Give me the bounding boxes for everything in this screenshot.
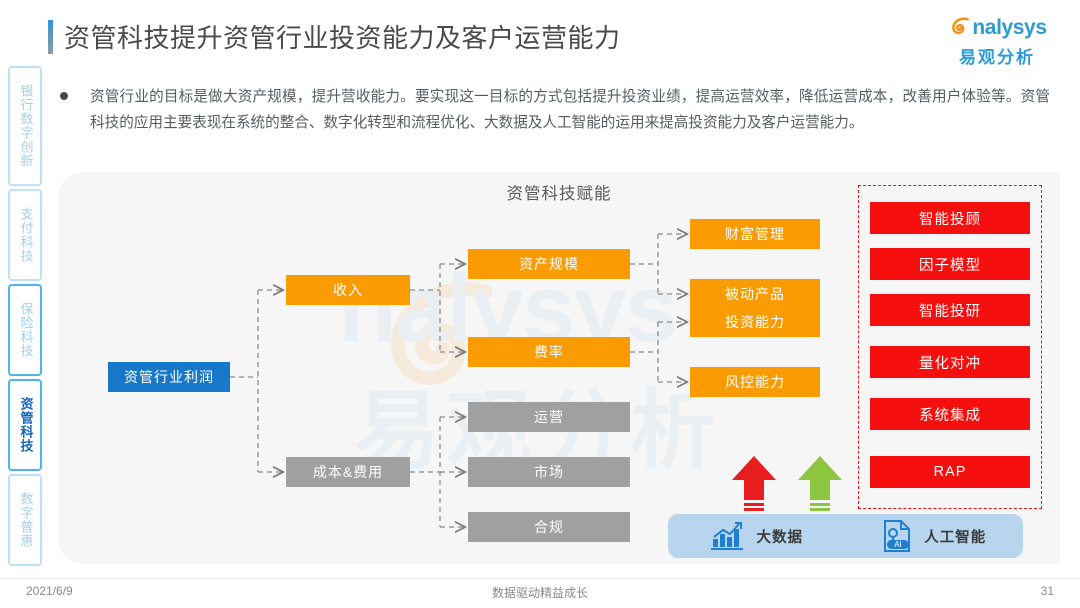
tech-enablers-bar: 大数据 AI 人工智能 [668,514,1023,558]
node-compliance[interactable]: 合规 [468,512,630,542]
sidebar-tabs: 银行数字创新 支付科技 保险科技 资管科技 数字普惠 [8,66,42,566]
bar-chart-icon [711,521,745,551]
node-asset-scale[interactable]: 资产规模 [468,249,630,279]
sidebar-item-asset-management-tech[interactable]: 资管科技 [8,379,42,471]
sidebar-item-digital-inclusive-finance[interactable]: 数字普惠 [8,474,42,566]
red-up-arrow-icon [730,454,778,514]
tech-item-artificial-intelligence[interactable]: AI 人工智能 [846,519,1024,553]
ai-document-icon: AI [882,519,912,553]
node-label: 资产规模 [519,254,579,274]
green-up-arrow-icon [796,454,844,514]
logo-chinese-name: 易观分析 [934,43,1060,68]
node-cost-and-expense[interactable]: 成本&费用 [286,457,410,487]
sidebar-item-label: 保险科技 [18,302,33,358]
sidebar-item-label: 银行数字创新 [18,84,33,168]
node-wealth-management[interactable]: 财富管理 [690,219,820,249]
node-passive-products[interactable]: 被动产品 [690,279,820,309]
node-asset-mgmt-industry-profit[interactable]: 资管行业利润 [108,362,230,392]
node-factor-model[interactable]: 因子模型 [870,248,1030,280]
svg-text:AI: AI [894,540,902,549]
node-label: 费率 [534,342,564,362]
node-investment-capability[interactable]: 投资能力 [690,307,820,337]
node-fee-rate[interactable]: 费率 [468,337,630,367]
footer-page-number: 31 [1041,584,1054,598]
diagram-panel: nalysys 易观分析 资管科技赋能 [58,172,1060,564]
node-label: 智能投研 [919,300,981,321]
sidebar-item-bank-digital-innovation[interactable]: 银行数字创新 [8,66,42,186]
node-label: 合规 [534,517,564,537]
node-smart-research[interactable]: 智能投研 [870,294,1030,326]
tech-label: 大数据 [757,526,804,547]
node-label: RAP [934,464,967,480]
node-label: 财富管理 [725,224,785,244]
node-label: 资管行业利润 [124,367,214,387]
bullet-dot-icon [60,92,68,100]
analysys-logo: nalysys 易观分析 [934,14,1060,66]
title-accent-bar [48,20,53,54]
sidebar-item-label: 资管科技 [18,397,33,453]
node-label: 智能投顾 [919,208,981,229]
logo-top-row: nalysys [934,14,1060,42]
node-system-integration[interactable]: 系统集成 [870,398,1030,430]
footer: 2021/6/9 数据驱动精益成长 31 [0,578,1080,600]
node-label: 成本&费用 [313,462,383,482]
node-label: 风控能力 [725,372,785,392]
bullet-paragraph: 资管行业的目标是做大资产规模，提升营收能力。要实现这一目标的方式包括提升投资业绩… [60,84,1050,136]
page-title-bar: 资管科技提升资管行业投资能力及客户运营能力 [48,18,621,55]
node-smart-advisory[interactable]: 智能投顾 [870,202,1030,234]
node-revenue[interactable]: 收入 [286,275,410,305]
node-label: 被动产品 [725,284,785,304]
bullet-text: 资管行业的目标是做大资产规模，提升营收能力。要实现这一目标的方式包括提升投资业绩… [90,84,1050,136]
page-title: 资管科技提升资管行业投资能力及客户运营能力 [64,18,621,55]
node-label: 投资能力 [725,312,785,332]
node-risk-control-capability[interactable]: 风控能力 [690,367,820,397]
sidebar-item-label: 支付科技 [18,207,33,263]
node-quant-hedging[interactable]: 量化对冲 [870,346,1030,378]
sidebar-item-label: 数字普惠 [18,492,33,548]
sidebar-item-insurance-tech[interactable]: 保险科技 [8,284,42,376]
node-label: 因子模型 [919,254,981,275]
tech-item-big-data[interactable]: 大数据 [668,521,846,551]
slide-root: 银行数字创新 支付科技 保险科技 资管科技 数字普惠 资管科技提升资管行业投资能… [0,0,1080,608]
node-label: 市场 [534,462,564,482]
tech-label: 人工智能 [924,526,986,547]
logo-wordmark: nalysys [972,16,1046,40]
node-market[interactable]: 市场 [468,457,630,487]
sidebar-item-payment-tech[interactable]: 支付科技 [8,189,42,281]
node-rap[interactable]: RAP [870,456,1030,488]
node-label: 系统集成 [919,404,981,425]
logo-swirl-icon [947,16,971,40]
node-operations[interactable]: 运营 [468,402,630,432]
node-label: 收入 [333,280,363,300]
node-label: 量化对冲 [919,352,981,373]
footer-tagline: 数据驱动精益成长 [0,584,1080,601]
node-label: 运营 [534,407,564,427]
